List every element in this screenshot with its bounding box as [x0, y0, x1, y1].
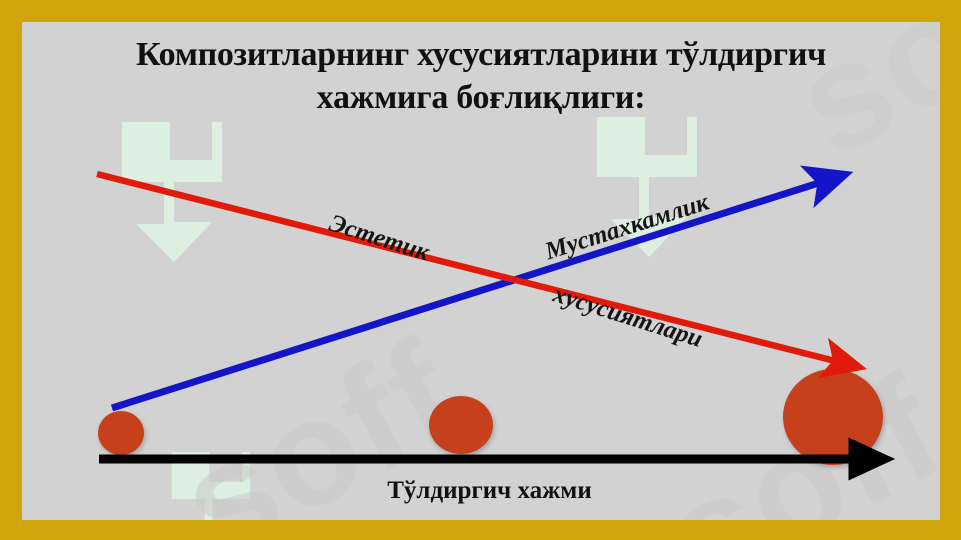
- slide-panel: soff soff soff Композитларнинг хусусиятл…: [22, 22, 940, 520]
- x-axis-label: Тўлдиргич хажми: [99, 477, 880, 505]
- trend-line-estetik: [97, 174, 843, 363]
- trend-diagram: [22, 22, 940, 520]
- particle-medium: [429, 396, 493, 454]
- particle-large: [783, 369, 883, 465]
- trend-line-mustahkamlik: [112, 180, 828, 408]
- particle-small: [98, 411, 144, 455]
- slide-canvas: soff soff soff Композитларнинг хусусиятл…: [0, 0, 961, 540]
